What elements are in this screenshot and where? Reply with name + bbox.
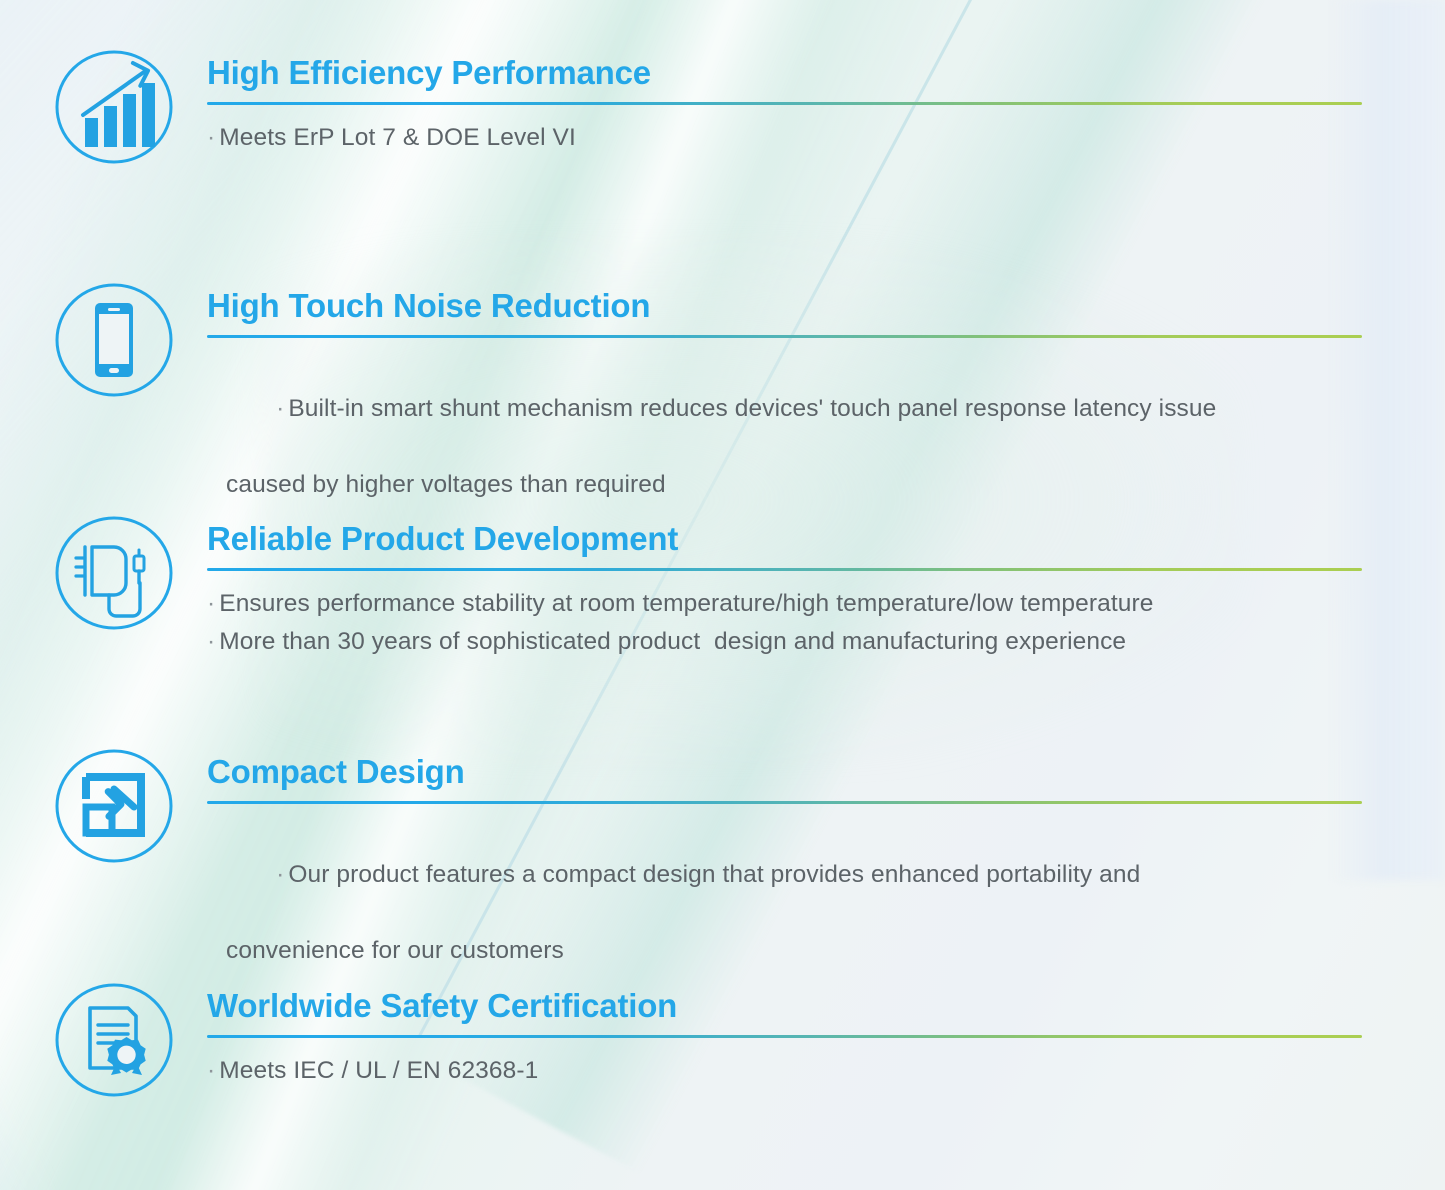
bullet-marker: · <box>207 590 215 617</box>
bar-chart-growth-icon <box>52 48 176 166</box>
feature-divider <box>207 1035 1362 1038</box>
bullet-item: ·More than 30 years of sophisticated pro… <box>207 623 1415 661</box>
feature-title: Worldwide Safety Certification <box>207 986 1415 1026</box>
bullet-text: More than 30 years of sophisticated prod… <box>219 628 1126 655</box>
feature-divider <box>207 568 1362 571</box>
bullet-marker: · <box>207 628 215 655</box>
bullet-text: Meets ErP Lot 7 & DOE Level VI <box>219 124 576 151</box>
certificate-award-icon <box>52 981 176 1099</box>
smartphone-icon <box>52 281 176 399</box>
bullet-text-continuation: caused by higher voltages than required <box>207 466 1415 504</box>
feature-bullets: ·Meets ErP Lot 7 & DOE Level VI <box>207 119 1415 157</box>
feature-bullets: ·Meets IEC / UL / EN 62368-1 <box>207 1052 1415 1090</box>
bullet-marker: · <box>276 861 284 888</box>
feature-body: High Efficiency Performance ·Meets ErP L… <box>207 48 1415 157</box>
power-adapter-icon <box>52 514 176 632</box>
feature-bullets: ·Ensures performance stability at room t… <box>207 585 1415 661</box>
feature-item-reliable-product-development: Reliable Product Development ·Ensures pe… <box>52 514 1415 661</box>
bullet-text: Ensures performance stability at room te… <box>219 590 1153 617</box>
bullet-text: Meets IEC / UL / EN 62368-1 <box>219 1057 538 1084</box>
feature-title: High Efficiency Performance <box>207 53 1415 93</box>
bullet-item: ·Meets IEC / UL / EN 62368-1 <box>207 1052 1415 1090</box>
feature-list: High Efficiency Performance ·Meets ErP L… <box>0 0 1445 1190</box>
bullet-item: ·Meets ErP Lot 7 & DOE Level VI <box>207 119 1415 157</box>
bullet-text: Built-in smart shunt mechanism reduces d… <box>288 395 1216 422</box>
feature-body: Reliable Product Development ·Ensures pe… <box>207 514 1415 661</box>
compact-resize-icon <box>52 747 176 865</box>
feature-divider <box>207 335 1362 338</box>
feature-title: High Touch Noise Reduction <box>207 286 1415 326</box>
bullet-text-continuation: convenience for our customers <box>207 932 1415 970</box>
bullet-item: ·Ensures performance stability at room t… <box>207 585 1415 623</box>
feature-item-high-efficiency-performance: High Efficiency Performance ·Meets ErP L… <box>52 48 1415 166</box>
feature-body: Worldwide Safety Certification ·Meets IE… <box>207 981 1415 1090</box>
feature-divider <box>207 102 1362 105</box>
bullet-marker: · <box>207 1057 215 1084</box>
feature-item-worldwide-safety-certification: Worldwide Safety Certification ·Meets IE… <box>52 981 1415 1099</box>
feature-divider <box>207 801 1362 804</box>
bullet-marker: · <box>276 395 284 422</box>
feature-title: Compact Design <box>207 752 1415 792</box>
bullet-text: Our product features a compact design th… <box>288 861 1140 888</box>
bullet-marker: · <box>207 124 215 151</box>
feature-title: Reliable Product Development <box>207 519 1415 559</box>
